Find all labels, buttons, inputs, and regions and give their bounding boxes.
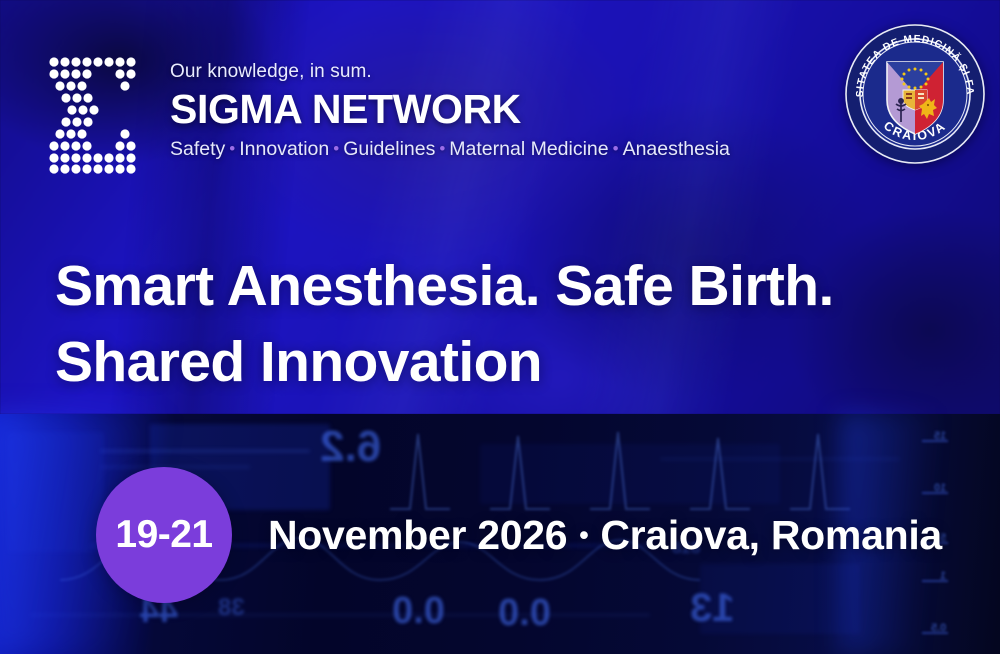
banner-header: Our knowledge, in sum. SIGMA NETWORK Saf… bbox=[0, 0, 1000, 200]
headline-line-2: Shared Innovation bbox=[55, 324, 834, 400]
pillar-guidelines: Guidelines bbox=[343, 138, 435, 160]
pillar-safety: Safety bbox=[170, 138, 225, 160]
event-days-badge: 19-21 bbox=[96, 467, 232, 603]
brand-kicker: Our knowledge, in sum. bbox=[170, 62, 730, 81]
headline-line-1: Smart Anesthesia. Safe Birth. bbox=[55, 248, 834, 324]
banner-headline: Smart Anesthesia. Safe Birth. Shared Inn… bbox=[55, 248, 834, 401]
pillar-separator-icon: • bbox=[225, 139, 239, 158]
event-date-location: November 2026•Craiova, Romania bbox=[268, 512, 942, 559]
pillar-innovation: Innovation bbox=[239, 138, 329, 160]
conference-banner: 6.2 44 38 0.0 0.0 13 818 15 10 5 1 0.5 bbox=[0, 0, 1000, 654]
event-month-year: November 2026 bbox=[268, 512, 567, 558]
monitor-readout: 6.2 bbox=[320, 422, 381, 472]
event-days-label: 19-21 bbox=[115, 513, 212, 557]
event-location: Craiova, Romania bbox=[600, 512, 942, 558]
brand-wordmark: SIGMA NETWORK bbox=[170, 89, 730, 130]
brand-pillars: Safety•Innovation•Guidelines•Maternal Me… bbox=[170, 140, 730, 160]
event-date-bar: 19-21 November 2026•Craiova, Romania bbox=[0, 470, 1000, 600]
pillar-separator-icon: • bbox=[435, 139, 449, 158]
logo-text-block: Our knowledge, in sum. SIGMA NETWORK Saf… bbox=[170, 62, 730, 160]
pillar-separator-icon: • bbox=[609, 139, 623, 158]
pillar-separator-icon: • bbox=[329, 139, 343, 158]
pillar-anaesthesia: Anaesthesia bbox=[623, 138, 730, 160]
pillar-maternal-medicine: Maternal Medicine bbox=[449, 138, 608, 160]
event-separator-icon: • bbox=[567, 520, 600, 550]
sigma-dot-matrix-logo-icon bbox=[46, 54, 146, 176]
university-seal-icon: UNIVERSITATEA DE MEDICINĂ ȘI FARMACIE CR… bbox=[843, 22, 987, 166]
